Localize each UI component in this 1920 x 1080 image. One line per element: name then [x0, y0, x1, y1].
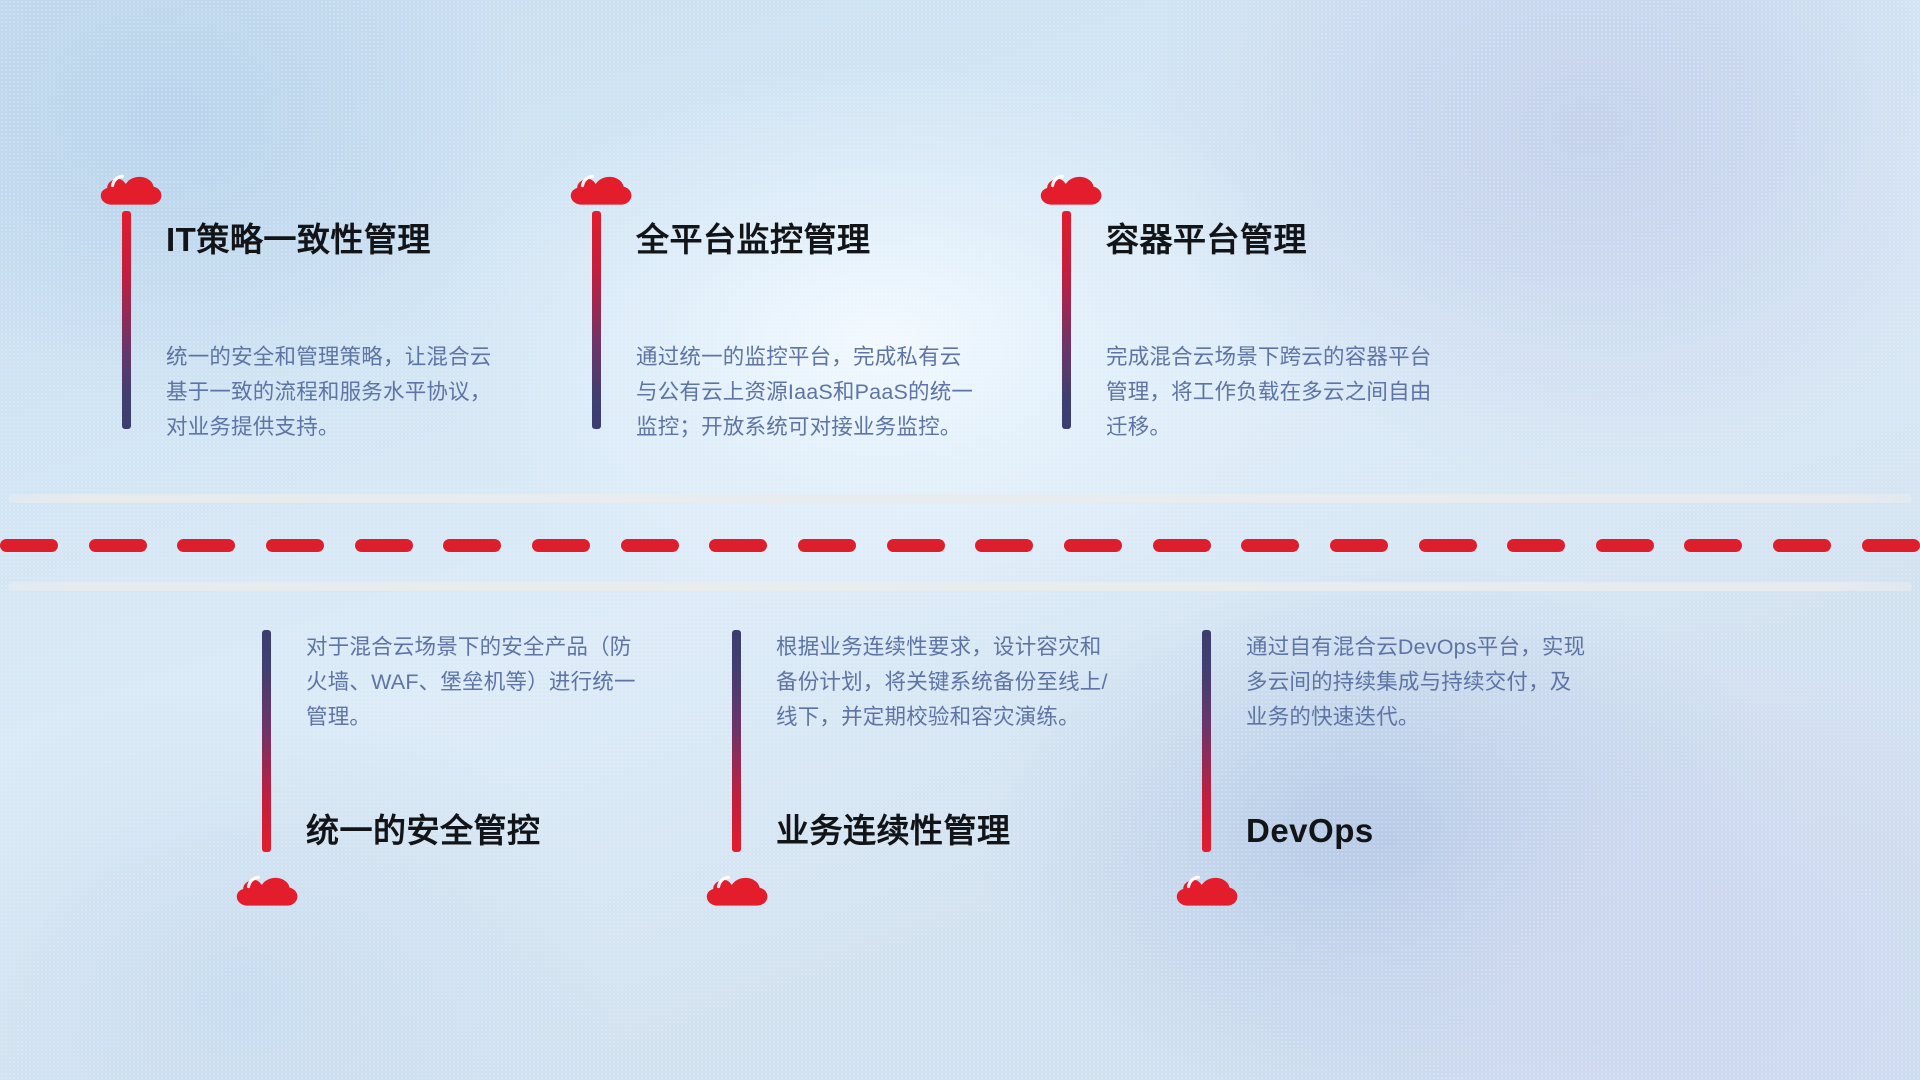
dash-segment: [798, 539, 856, 552]
divider-rule-bottom: [8, 582, 1912, 591]
connector-line: [1202, 630, 1211, 852]
card-business-continuity: 根据业务连续性要求，设计容灾和备份计划，将关键系统备份至线上/线下，并定期校验和…: [710, 630, 1110, 930]
card-devops: 通过自有混合云DevOps平台，实现多云间的持续集成与持续交付，及业务的快速迭代…: [1180, 630, 1580, 930]
dash-segment: [532, 539, 590, 552]
dash-segment: [887, 539, 945, 552]
card-body: 对于混合云场景下的安全产品（防火墙、WAF、堡垒机等）进行统一管理。: [306, 630, 651, 734]
divider-rule-top: [8, 494, 1912, 503]
dash-segment: [1241, 539, 1299, 552]
card-body: 统一的安全和管理策略，让混合云基于一致的流程和服务水平协议，对业务提供支持。: [166, 340, 511, 444]
divider-dashed-line: [0, 538, 1920, 552]
dash-segment: [266, 539, 324, 552]
cloud-icon: [1040, 165, 1102, 217]
card-title: 统一的安全管控: [306, 814, 541, 847]
connector-line: [1062, 211, 1071, 429]
connector-line: [122, 211, 131, 429]
card-title: IT策略一致性管理: [166, 223, 431, 256]
card-body: 通过自有混合云DevOps平台，实现多云间的持续集成与持续交付，及业务的快速迭代…: [1246, 630, 1591, 734]
cloud-icon: [236, 866, 298, 918]
cloud-icon: [1176, 866, 1238, 918]
card-body: 通过统一的监控平台，完成私有云与公有云上资源IaaS和PaaS的统一监控；开放系…: [636, 340, 981, 444]
card-title: 容器平台管理: [1106, 223, 1307, 256]
cloud-icon: [706, 866, 768, 918]
card-body: 根据业务连续性要求，设计容灾和备份计划，将关键系统备份至线上/线下，并定期校验和…: [776, 630, 1121, 734]
card-full-platform-monitoring: 全平台监控管理 通过统一的监控平台，完成私有云与公有云上资源IaaS和PaaS的…: [570, 165, 970, 425]
dash-segment: [1330, 539, 1388, 552]
cloud-icon: [100, 165, 162, 217]
connector-line: [592, 211, 601, 429]
dash-segment: [1419, 539, 1477, 552]
infographic-canvas: IT策略一致性管理 统一的安全和管理策略，让混合云基于一致的流程和服务水平协议，…: [0, 0, 1920, 1080]
dash-segment: [1596, 539, 1654, 552]
dash-segment: [1507, 539, 1565, 552]
dash-segment: [709, 539, 767, 552]
dash-segment: [1862, 539, 1920, 552]
dash-segment: [89, 539, 147, 552]
dash-segment: [1153, 539, 1211, 552]
dash-segment: [0, 539, 58, 552]
dash-segment: [355, 539, 413, 552]
connector-line: [262, 630, 271, 852]
card-title: DevOps: [1246, 814, 1374, 847]
dash-segment: [177, 539, 235, 552]
dash-segment: [443, 539, 501, 552]
card-unified-security: 对于混合云场景下的安全产品（防火墙、WAF、堡垒机等）进行统一管理。 统一的安全…: [240, 630, 640, 930]
card-container-platform: 容器平台管理 完成混合云场景下跨云的容器平台管理，将工作负载在多云之间自由迁移。: [1040, 165, 1440, 425]
dash-segment: [975, 539, 1033, 552]
dash-segment: [1064, 539, 1122, 552]
cloud-icon: [570, 165, 632, 217]
dash-segment: [1773, 539, 1831, 552]
dash-segment: [1684, 539, 1742, 552]
connector-line: [732, 630, 741, 852]
card-title: 全平台监控管理: [636, 223, 871, 256]
dash-segment: [621, 539, 679, 552]
card-body: 完成混合云场景下跨云的容器平台管理，将工作负载在多云之间自由迁移。: [1106, 340, 1451, 444]
center-divider: [0, 490, 1920, 600]
card-it-policy-consistency: IT策略一致性管理 统一的安全和管理策略，让混合云基于一致的流程和服务水平协议，…: [100, 165, 500, 425]
card-title: 业务连续性管理: [776, 814, 1011, 847]
